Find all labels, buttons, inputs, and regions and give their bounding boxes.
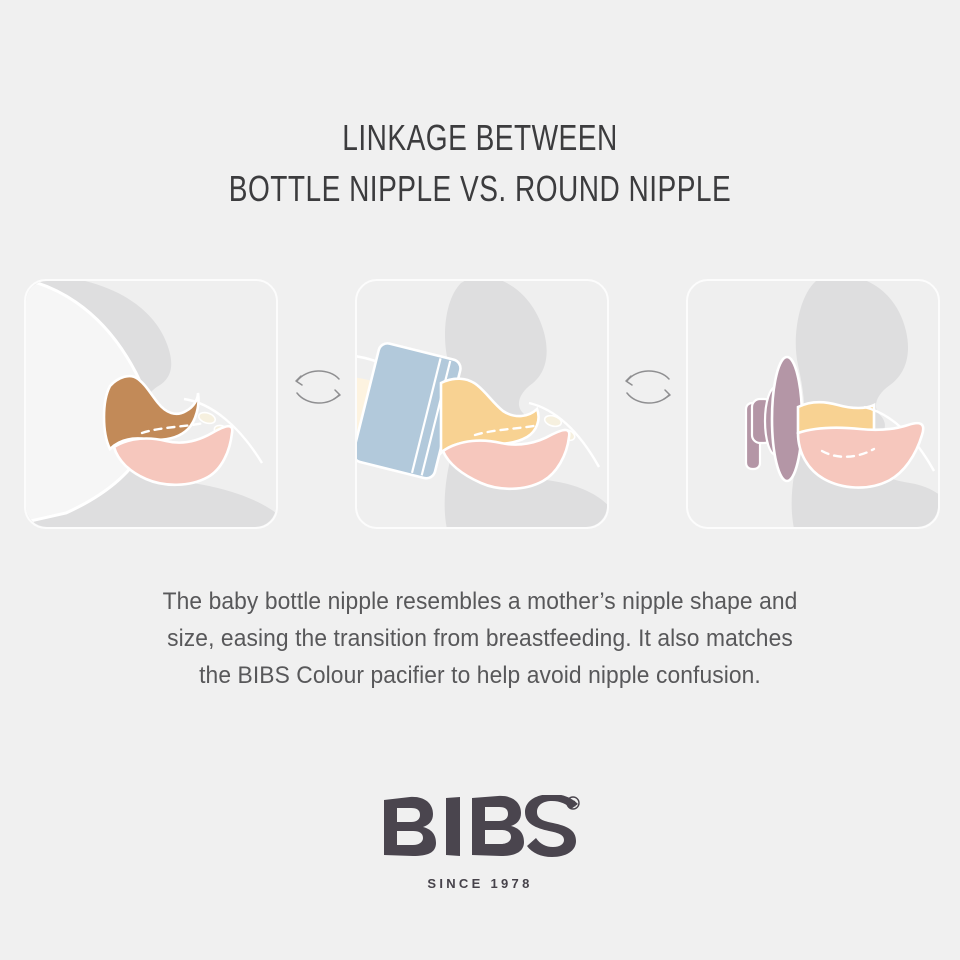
panel-round-pacifier [686,279,940,529]
sync-arrows-icon [617,357,679,415]
body-line-1: The baby bottle nipple resembles a mothe… [115,583,845,620]
logo-tagline: SINCE 1978 [0,876,960,891]
panel-breastfeeding [24,279,278,529]
bibs-wordmark: R [380,795,580,857]
title-line-2: BOTTLE NIPPLE VS. ROUND NIPPLE [106,163,855,214]
svg-text:R: R [570,800,576,809]
title-line-1: LINKAGE BETWEEN [106,112,855,163]
infographic-page: LINKAGE BETWEEN BOTTLE NIPPLE VS. ROUND … [0,0,960,960]
panel-bottle-nipple [355,279,609,529]
brand-logo: R SINCE 1978 [0,795,960,891]
connector-1 [287,357,349,415]
connector-2 [617,357,679,415]
body-line-3: the BIBS Colour pacifier to help avoid n… [115,657,845,694]
body-line-2: size, easing the transition from breastf… [115,620,845,657]
sync-arrows-icon [287,357,349,415]
body-copy: The baby bottle nipple resembles a mothe… [96,583,864,694]
page-title: LINKAGE BETWEEN BOTTLE NIPPLE VS. ROUND … [0,112,960,214]
illustration-strip [0,279,960,527]
